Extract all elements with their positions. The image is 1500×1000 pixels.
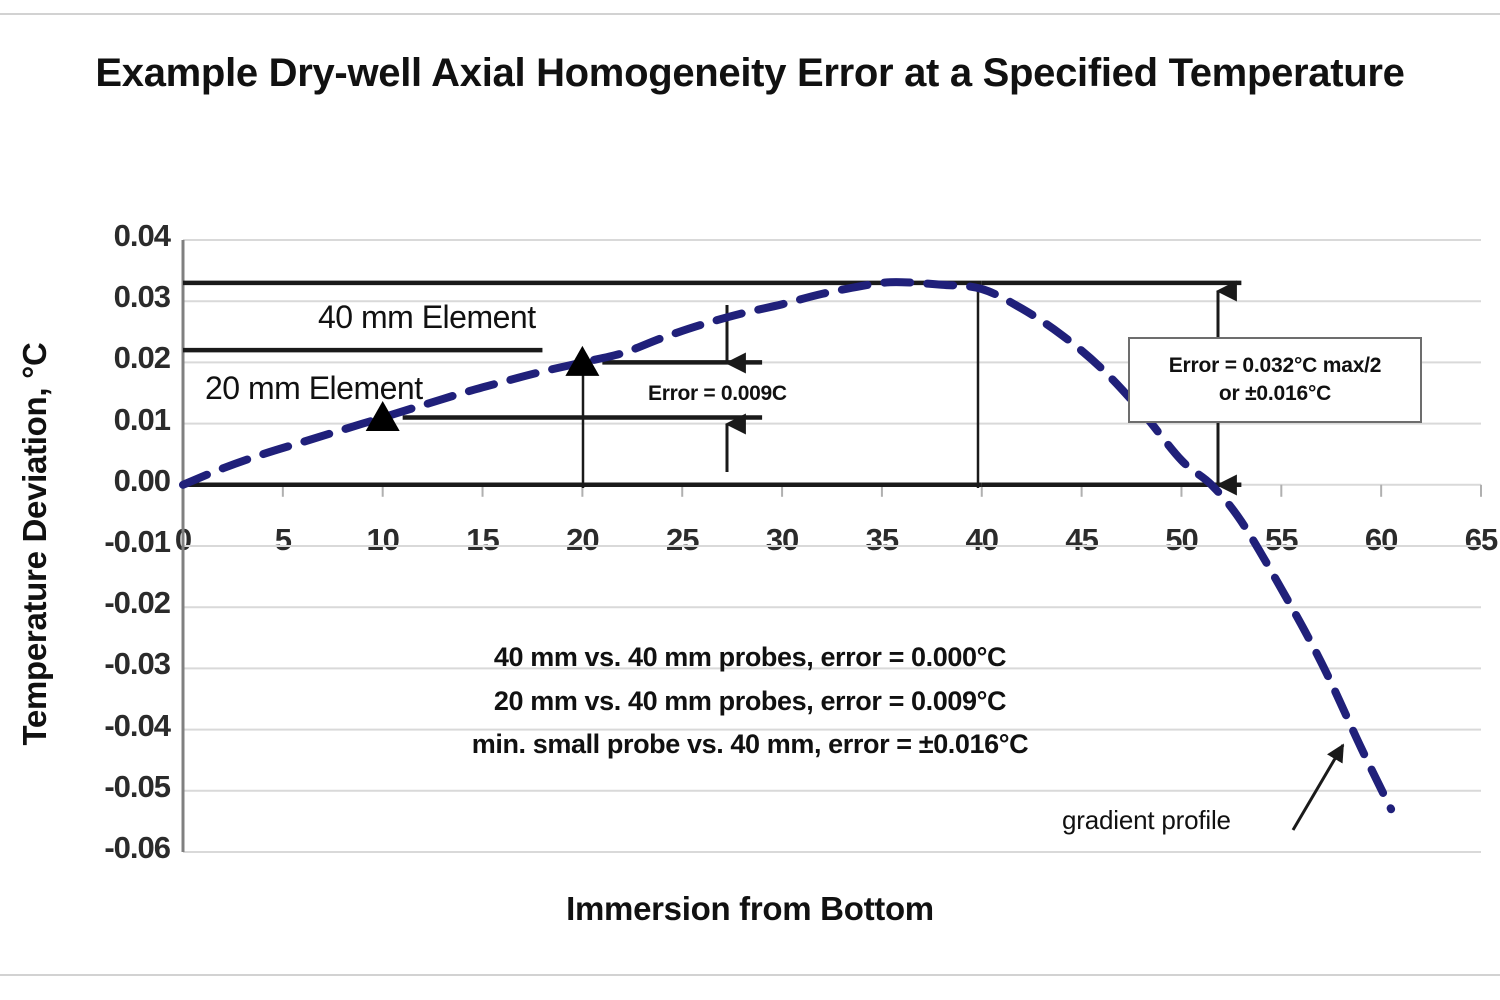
callout-line-2: or ±0.016°C — [1219, 380, 1331, 408]
plot-area — [0, 0, 1500, 1000]
legend-text-block: 40 mm vs. 40 mm probes, error = 0.000°C … — [0, 636, 1500, 767]
legend-line-1: 40 mm vs. 40 mm probes, error = 0.000°C — [0, 636, 1500, 680]
label-40mm-element: 40 mm Element — [318, 299, 536, 336]
label-error-0009c: Error = 0.009C — [648, 382, 787, 406]
legend-line-2: 20 mm vs. 40 mm probes, error = 0.009°C — [0, 680, 1500, 724]
label-gradient-profile: gradient profile — [1062, 805, 1231, 836]
callout-error-box: Error = 0.032°C max/2 or ±0.016°C — [1128, 337, 1422, 423]
label-20mm-element: 20 mm Element — [205, 370, 423, 407]
callout-line-1: Error = 0.032°C max/2 — [1169, 352, 1382, 380]
chart-page: Example Dry-well Axial Homogeneity Error… — [0, 0, 1500, 1000]
legend-line-3: min. small probe vs. 40 mm, error = ±0.0… — [0, 723, 1500, 767]
